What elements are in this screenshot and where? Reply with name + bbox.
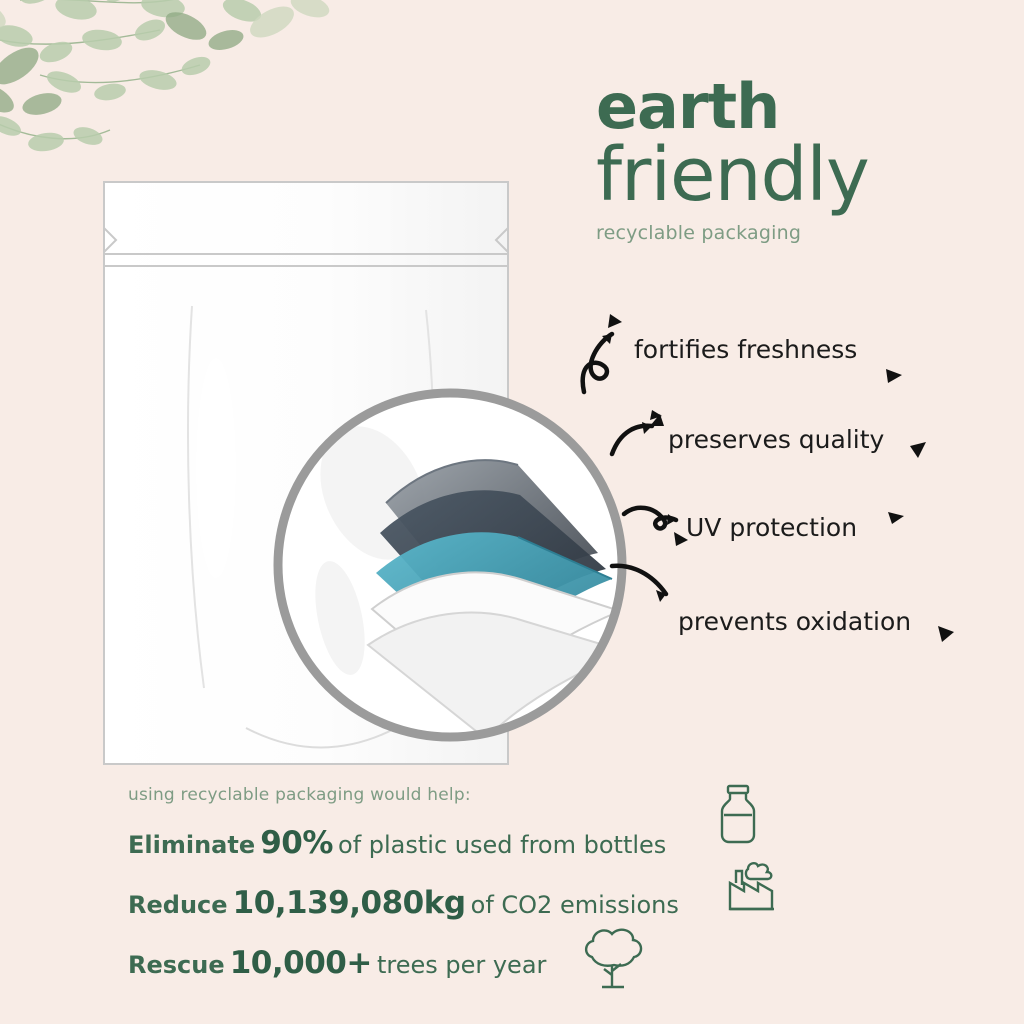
factory-icon bbox=[724, 855, 780, 917]
headline-line-1: earth bbox=[596, 78, 996, 136]
stat-value-0: 90% bbox=[260, 825, 333, 861]
stat-value-1: 10,139,080kg bbox=[233, 885, 466, 921]
stat-rest-2: trees per year bbox=[377, 951, 546, 979]
feature-label-2: UV protection bbox=[686, 513, 857, 542]
headline-line-2: friendly bbox=[596, 138, 996, 212]
headline-block: earth friendly recyclable packaging bbox=[596, 78, 996, 244]
stat-row-2: Rescue 10,000+ trees per year bbox=[128, 945, 546, 981]
spark-mark-icon-5 bbox=[936, 624, 960, 652]
magnified-film-layers bbox=[268, 383, 632, 747]
stat-row-0: Eliminate 90% of plastic used from bottl… bbox=[128, 825, 666, 861]
spark-mark-icon-2 bbox=[648, 412, 668, 436]
stat-row-1: Reduce 10,139,080kg of CO2 emissions bbox=[128, 885, 679, 921]
spark-mark-icon-0 bbox=[884, 365, 910, 395]
feature-label-0: fortifies freshness bbox=[634, 335, 857, 364]
spark-mark-icon-3 bbox=[886, 508, 908, 534]
feature-label-1: preserves quality bbox=[668, 425, 884, 454]
bottle-icon bbox=[712, 783, 764, 849]
stat-verb-0: Eliminate bbox=[128, 831, 255, 859]
stat-verb-2: Rescue bbox=[128, 951, 225, 979]
stat-rest-0: of plastic used from bottles bbox=[338, 831, 666, 859]
stat-verb-1: Reduce bbox=[128, 891, 228, 919]
stat-rest-1: of CO2 emissions bbox=[471, 891, 679, 919]
curved-arrow-icon-3 bbox=[608, 556, 680, 620]
stat-value-2: 10,000+ bbox=[230, 945, 372, 981]
curved-arrow-icon-0 bbox=[554, 308, 634, 402]
tree-icon bbox=[578, 925, 650, 995]
feature-label-3: prevents oxidation bbox=[678, 607, 911, 636]
headline-subtitle: recyclable packaging bbox=[596, 222, 996, 244]
stats-intro: using recyclable packaging would help: bbox=[128, 785, 471, 805]
poster-canvas: earth friendly recyclable packaging bbox=[0, 0, 1024, 1024]
spark-mark-icon-1 bbox=[908, 440, 934, 470]
